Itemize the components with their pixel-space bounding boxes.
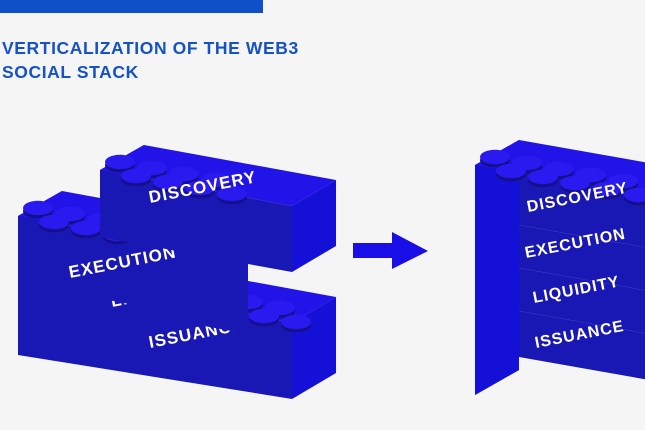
left-structure: ISSUANCE LIQUIDITY	[18, 145, 336, 399]
transformation-arrow	[353, 232, 428, 269]
lego-diagram: ISSUANCE LIQUIDITY	[0, 0, 645, 430]
brick-issuance-right: ISSUANCE	[475, 309, 645, 395]
diagram-canvas: VERTICALIZATION OF THE WEB3 SOCIAL STACK	[0, 0, 645, 430]
right-structure: DISCOVERY EXECUTION LIQUIDITY ISSUANCE	[475, 140, 645, 395]
